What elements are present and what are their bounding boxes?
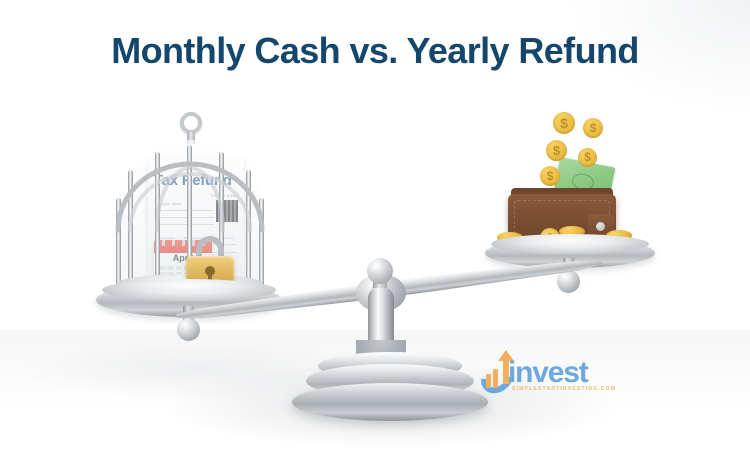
scale-pan-right-surface: [491, 234, 649, 254]
falling-coin-icon: $: [546, 140, 567, 161]
falling-coin-icon: $: [578, 148, 597, 167]
corner-shading: [450, 0, 750, 180]
logo-wordmark: invest: [508, 356, 588, 390]
brand-logo[interactable]: invest SIMPLESTARTINVESTING.COM: [478, 348, 606, 398]
falling-coin-icon: $: [540, 166, 560, 186]
scale-knob: [367, 258, 393, 284]
falling-coin-icon: $: [553, 112, 575, 134]
logo-bar-icon: [493, 369, 498, 388]
falling-coin-icon: $: [583, 118, 603, 138]
cage-dome-arcs: [110, 138, 270, 248]
page-title: Monthly Cash vs. Yearly Refund: [0, 30, 750, 72]
logo-bar-icon: [486, 374, 491, 388]
logo-tagline: SIMPLESTARTINVESTING.COM: [512, 386, 616, 392]
wallet-stud: [596, 222, 605, 231]
scale-base-tier-1: [292, 383, 488, 421]
cage-finial-ring-icon: [180, 112, 202, 134]
